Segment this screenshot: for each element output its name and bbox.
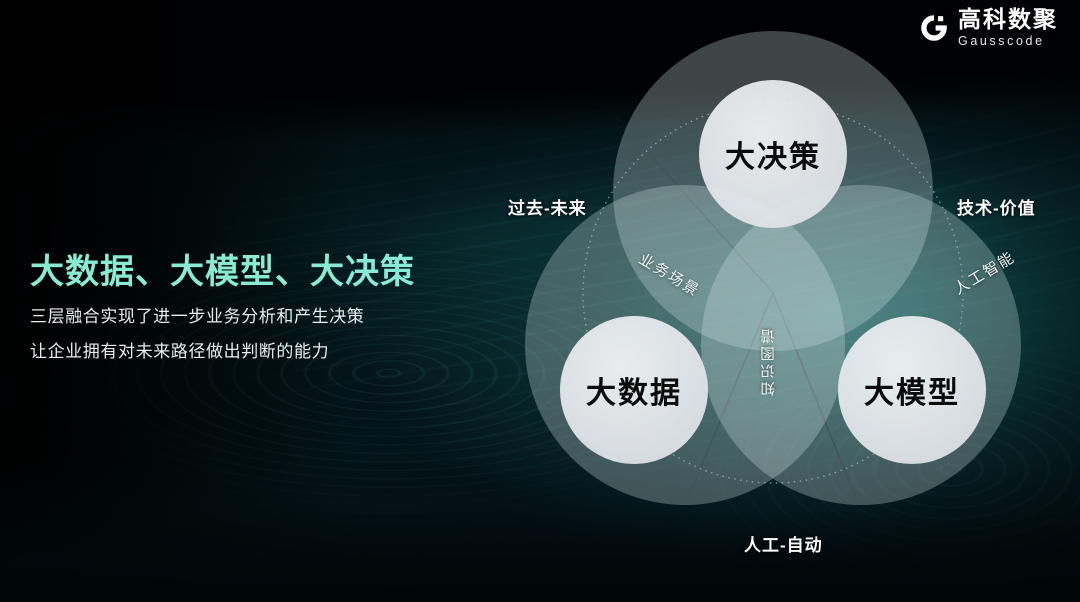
subtitle-line-1: 三层融合实现了进一步业务分析和产生决策	[30, 308, 470, 325]
copy-block: 大数据、大模型、大决策 三层融合实现了进一步业务分析和产生决策 让企业拥有对未来…	[30, 252, 470, 360]
venn-graphics	[488, 8, 1058, 578]
node-label-bigdata: 大数据	[586, 368, 682, 412]
edge-label-manual-automatic: 人工-自动	[744, 531, 823, 556]
edge-label-tech-value: 技术-价值	[957, 194, 1036, 219]
node-label-bigmodel: 大模型	[864, 368, 960, 412]
slide-canvas: 高科数聚 Gausscode 大数据、大模型、大决策 三层融合实现了进一步业务分…	[0, 0, 1080, 602]
edge-label-past-future: 过去-未来	[508, 194, 587, 219]
subtitle-line-2: 让企业拥有对未来路径做出判断的能力	[30, 343, 470, 360]
intersection-label-knowledge-graph: 知识图谱	[758, 326, 779, 396]
venn-diagram: 业务场景 人工智能 知识图谱 大决策 大数据 大模型	[488, 8, 1058, 578]
page-title: 大数据、大模型、大决策	[30, 252, 470, 292]
node-label-decision: 大决策	[725, 132, 821, 176]
